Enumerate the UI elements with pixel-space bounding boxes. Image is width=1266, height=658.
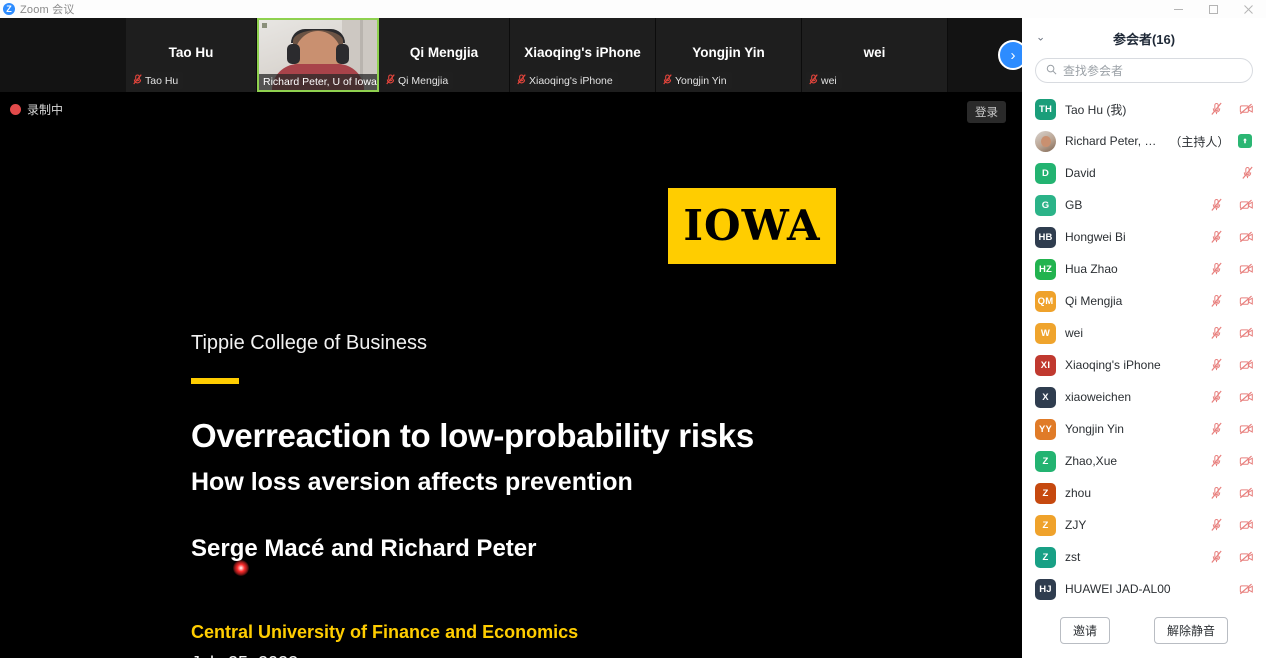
participant-name: Qi Mengjia (1065, 294, 1201, 308)
search-icon (1046, 64, 1057, 78)
mic-muted-icon[interactable] (1210, 326, 1223, 340)
avatar: W (1035, 323, 1056, 344)
maximize-icon[interactable] (1196, 0, 1231, 18)
mic-muted-icon[interactable] (1210, 518, 1223, 532)
video-tile[interactable]: weiwei (802, 18, 948, 92)
participant-name: ZJY (1065, 518, 1201, 532)
avatar: HJ (1035, 579, 1056, 600)
slide-content: Tippie College of Business Overreaction … (191, 332, 1022, 658)
minimize-icon[interactable] (1161, 0, 1196, 18)
video-tile[interactable]: Richard Peter, U of Iowa (257, 18, 379, 92)
participants-panel: ⌄ 参会者(16) THTao Hu (我)Richard Peter, …（主… (1022, 18, 1266, 658)
camera-off-icon[interactable] (1239, 454, 1254, 468)
tile-display-name: wei (864, 45, 886, 66)
participants-list[interactable]: THTao Hu (我)Richard Peter, …（主持人）DDavidG… (1022, 93, 1266, 602)
filmstrip-left-pad (0, 18, 126, 92)
window-titlebar: Z Zoom 会议 (0, 0, 1266, 18)
tile-name-chip: wei (806, 72, 842, 89)
slide-title: Overreaction to low-probability risks (191, 418, 1022, 454)
login-button[interactable]: 登录 (967, 101, 1006, 123)
participant-name: Zhao,Xue (1065, 454, 1201, 468)
mic-muted-icon[interactable] (1210, 230, 1223, 244)
recording-dot-icon (10, 104, 21, 115)
participant-row[interactable]: Zzhou (1022, 477, 1266, 509)
tile-name-label: Richard Peter, U of Iowa (263, 76, 377, 88)
camera-off-icon[interactable] (1239, 294, 1254, 308)
participant-row[interactable]: GGB (1022, 189, 1266, 221)
avatar: HZ (1035, 259, 1056, 280)
participant-name: Xiaoqing's iPhone (1065, 358, 1201, 372)
participant-row[interactable]: QMQi Mengjia (1022, 285, 1266, 317)
mic-muted-icon[interactable] (1210, 422, 1223, 436)
search-input[interactable] (1063, 64, 1242, 78)
mic-muted-icon (133, 74, 142, 88)
camera-off-icon[interactable] (1239, 486, 1254, 500)
shared-screen-stage: 录制中 登录 IOWA Tippie College of Business O… (0, 92, 1022, 658)
avatar: Z (1035, 547, 1056, 568)
mic-muted-icon[interactable] (1210, 262, 1223, 276)
participant-row[interactable]: ZZhao,Xue (1022, 445, 1266, 477)
screen-share-badge-icon (1238, 134, 1252, 148)
camera-off-icon[interactable] (1239, 262, 1254, 276)
slide-authors: Serge Macé and Richard Peter (191, 535, 1022, 563)
mic-muted-icon (386, 74, 395, 88)
slide-subtitle: How loss aversion affects prevention (191, 468, 1022, 497)
participants-footer: 邀请 解除静音 (1022, 602, 1266, 658)
participant-row[interactable]: Richard Peter, …（主持人） (1022, 125, 1266, 157)
participant-row[interactable]: HJHUAWEI JAD-AL00 (1022, 573, 1266, 602)
participant-name: Hua Zhao (1065, 262, 1201, 276)
tile-name-label: Tao Hu (145, 75, 178, 87)
participant-row[interactable]: Zzst (1022, 541, 1266, 573)
camera-off-icon[interactable] (1239, 390, 1254, 404)
participant-row[interactable]: Wwei (1022, 317, 1266, 349)
participants-count-title: 参会者(16) (1113, 29, 1175, 48)
participant-name: David (1065, 166, 1232, 180)
participant-row[interactable]: YYYongjin Yin (1022, 413, 1266, 445)
tile-name-chip: Richard Peter, U of Iowa (259, 74, 377, 90)
invite-button[interactable]: 邀请 (1060, 617, 1110, 644)
participant-name: Richard Peter, … (1065, 134, 1156, 148)
mic-muted-icon (663, 74, 672, 88)
iowa-logo: IOWA (668, 188, 836, 264)
video-tile[interactable]: Xiaoqing's iPhoneXiaoqing's iPhone (510, 18, 656, 92)
avatar-photo (1035, 131, 1056, 152)
chevron-right-icon: › (998, 40, 1022, 70)
mic-muted-icon[interactable] (1210, 198, 1223, 212)
participant-name: wei (1065, 326, 1201, 340)
close-icon[interactable] (1231, 0, 1266, 18)
tile-display-name: Tao Hu (169, 45, 214, 66)
participant-name: zhou (1065, 486, 1201, 500)
slide-affiliation: Central University of Finance and Econom… (191, 622, 1022, 643)
camera-off-icon[interactable] (1239, 422, 1254, 436)
search-box[interactable] (1035, 58, 1253, 83)
participant-name: Yongjin Yin (1065, 422, 1201, 436)
window-controls (1161, 0, 1266, 18)
tile-display-name: Xiaoqing's iPhone (524, 45, 640, 66)
video-filmstrip: Tao HuTao HuRichard Peter, U of IowaQi M… (0, 18, 1022, 92)
camera-off-icon[interactable] (1239, 102, 1254, 116)
tile-name-chip: Xiaoqing's iPhone (514, 72, 618, 89)
zoom-logo-icon: Z (3, 3, 15, 15)
participants-panel-header: ⌄ 参会者(16) (1022, 18, 1266, 58)
participant-row[interactable]: Xxiaoweichen (1022, 381, 1266, 413)
tile-display-name: Yongjin Yin (692, 45, 765, 66)
participant-name: GB (1065, 198, 1201, 212)
recording-label: 录制中 (27, 101, 63, 118)
participant-row[interactable]: HZHua Zhao (1022, 253, 1266, 285)
slide-date: July 25, 2023 (191, 653, 1022, 658)
laser-pointer-icon (233, 560, 249, 576)
camera-off-icon[interactable] (1239, 550, 1254, 564)
video-tile[interactable]: Yongjin YinYongjin Yin (656, 18, 802, 92)
participants-search-wrap (1022, 58, 1266, 93)
unmute-button[interactable]: 解除静音 (1154, 617, 1228, 644)
tile-name-chip: Tao Hu (130, 72, 183, 89)
participant-row[interactable]: DDavid (1022, 157, 1266, 189)
mic-muted-icon[interactable] (1210, 390, 1223, 404)
avatar: X (1035, 387, 1056, 408)
avatar: Z (1035, 515, 1056, 536)
camera-off-icon[interactable] (1239, 198, 1254, 212)
window-title: Zoom 会议 (20, 1, 75, 17)
tile-name-label: Qi Mengjia (398, 75, 448, 87)
slide-eyebrow: Tippie College of Business (191, 332, 1022, 354)
participant-row[interactable]: XIXiaoqing's iPhone (1022, 349, 1266, 381)
avatar: HB (1035, 227, 1056, 248)
tile-name-label: Yongjin Yin (675, 75, 727, 87)
mic-muted-icon[interactable] (1241, 166, 1254, 180)
tile-name-chip: Yongjin Yin (660, 72, 732, 89)
avatar: Z (1035, 483, 1056, 504)
recording-indicator: 录制中 (10, 101, 63, 118)
camera-off-icon[interactable] (1239, 518, 1254, 532)
avatar: YY (1035, 419, 1056, 440)
host-label: （主持人） (1169, 133, 1229, 150)
avatar: XI (1035, 355, 1056, 376)
avatar: Z (1035, 451, 1056, 472)
mic-muted-icon[interactable] (1210, 454, 1223, 468)
iowa-logo-text: IOWA (683, 205, 820, 247)
mic-muted-icon[interactable] (1210, 486, 1223, 500)
camera-off-icon[interactable] (1239, 582, 1254, 596)
participant-name: HUAWEI JAD-AL00 (1065, 582, 1230, 596)
tile-name-chip: Qi Mengjia (383, 72, 453, 89)
avatar: TH (1035, 99, 1056, 120)
mic-muted-icon[interactable] (1210, 102, 1223, 116)
slide-accent-rule (191, 378, 239, 384)
tile-display-name: Qi Mengjia (410, 45, 478, 66)
participant-name: xiaoweichen (1065, 390, 1201, 404)
zoom-meeting-window: Z Zoom 会议 Tao HuTao HuRichard Peter, U o… (0, 0, 1266, 658)
avatar: D (1035, 163, 1056, 184)
participant-name: Tao Hu (我) (1065, 101, 1201, 118)
avatar: G (1035, 195, 1056, 216)
participant-row[interactable]: HBHongwei Bi (1022, 221, 1266, 253)
mic-muted-icon[interactable] (1210, 550, 1223, 564)
participant-row[interactable]: ZZJY (1022, 509, 1266, 541)
camera-off-icon[interactable] (1239, 358, 1254, 372)
tile-name-label: wei (821, 75, 837, 87)
camera-off-icon[interactable] (1239, 230, 1254, 244)
avatar: QM (1035, 291, 1056, 312)
mic-muted-icon (809, 74, 818, 88)
mic-muted-icon[interactable] (1210, 294, 1223, 308)
camera-off-icon[interactable] (1239, 326, 1254, 340)
video-tile[interactable]: Qi MengjiaQi Mengjia (379, 18, 510, 92)
chevron-down-icon[interactable]: ⌄ (1036, 33, 1045, 44)
participant-name: Hongwei Bi (1065, 230, 1201, 244)
video-tile[interactable]: Tao HuTao Hu (126, 18, 257, 92)
participant-name: zst (1065, 550, 1201, 564)
filmstrip-next-button[interactable]: › (948, 18, 1022, 92)
mic-muted-icon (517, 74, 526, 88)
tile-name-label: Xiaoqing's iPhone (529, 75, 613, 87)
participant-row[interactable]: THTao Hu (我) (1022, 93, 1266, 125)
mic-muted-icon[interactable] (1210, 358, 1223, 372)
